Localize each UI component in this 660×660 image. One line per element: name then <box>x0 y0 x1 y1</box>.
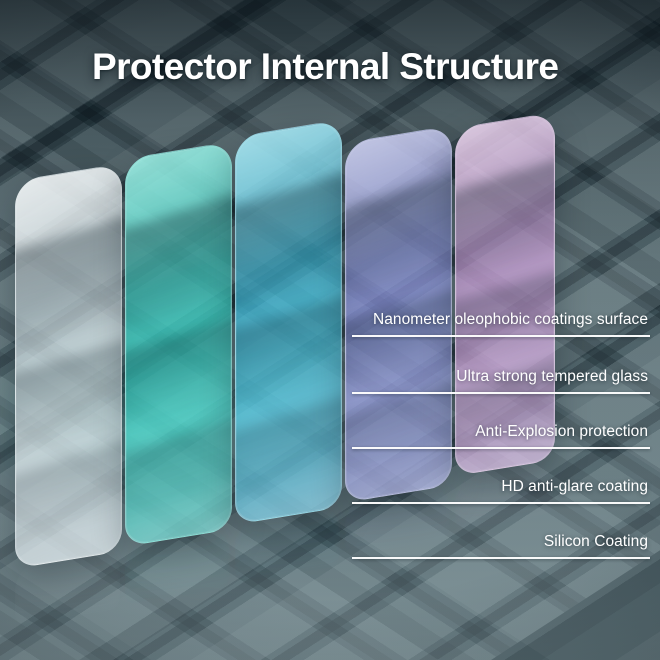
protector-layer-3[interactable] <box>235 119 342 524</box>
protector-layer-2[interactable] <box>125 141 232 546</box>
callout-rule <box>352 335 650 337</box>
protector-layer-5[interactable] <box>455 112 555 476</box>
callout-nanometer-oleophobic[interactable]: Nanometer oleophobic coatings surface <box>352 311 650 337</box>
callout-rule <box>352 447 650 449</box>
callout-label: Silicon Coating <box>352 533 650 551</box>
callout-rule <box>352 502 650 504</box>
protector-structure-infographic: Protector Internal Structure Nanometer o… <box>0 0 660 660</box>
callout-label: HD anti-glare coating <box>352 478 650 496</box>
callout-rule <box>352 392 650 394</box>
callout-label: Anti-Explosion protection <box>352 423 650 441</box>
callout-label: Nanometer oleophobic coatings surface <box>352 311 650 329</box>
callout-hd-anti-glare[interactable]: HD anti-glare coating <box>352 478 650 504</box>
callout-silicon-coating[interactable]: Silicon Coating <box>352 533 650 559</box>
callout-rule <box>352 557 650 559</box>
callout-tempered-glass[interactable]: Ultra strong tempered glass <box>352 368 650 394</box>
protector-layer-1[interactable] <box>15 163 122 568</box>
callout-anti-explosion[interactable]: Anti-Explosion protection <box>352 423 650 449</box>
callout-label: Ultra strong tempered glass <box>352 368 650 386</box>
page-title: Protector Internal Structure <box>92 46 558 88</box>
